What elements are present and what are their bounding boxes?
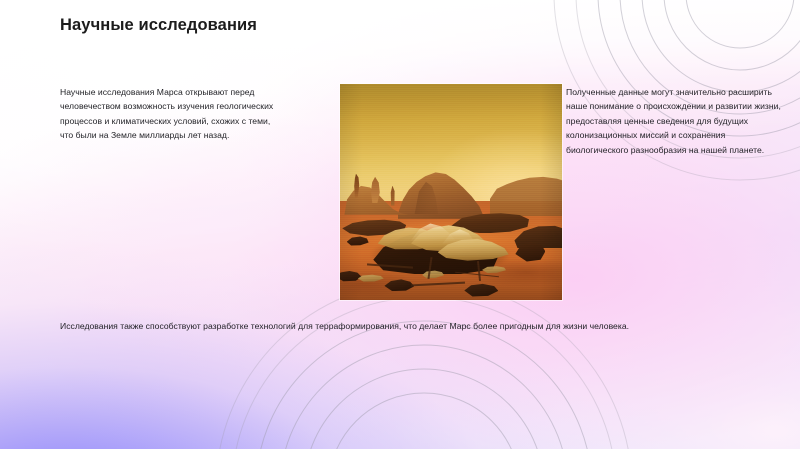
- mars-landscape-image: [340, 84, 562, 300]
- paragraph-bottom: Исследования также способствуют разработ…: [60, 319, 732, 334]
- paragraph-right: Полученные данные могут значительно расш…: [566, 85, 784, 158]
- decor-rings-bottom-center: [214, 279, 634, 449]
- image-grain: [340, 84, 562, 300]
- slide-canvas: Научные исследования Научные исследовани…: [0, 0, 800, 449]
- page-title: Научные исследования: [60, 16, 257, 35]
- paragraph-left: Научные исследования Марса открывают пер…: [60, 85, 278, 143]
